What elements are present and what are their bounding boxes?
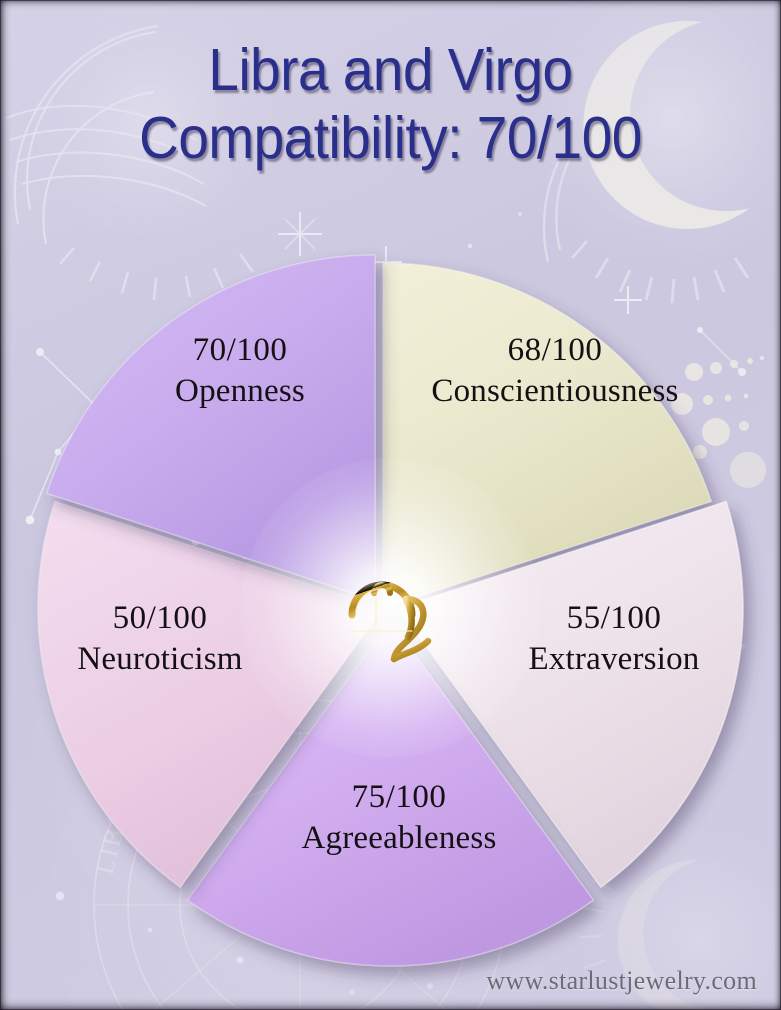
website-url[interactable]: www.starlustjewelry.com: [486, 966, 757, 996]
libra-virgo-zodiac-glyph-icon: [332, 541, 452, 669]
compatibility-pie-chart: [0, 0, 781, 1010]
infographic-canvas: LIBRA VIRGO: [0, 0, 781, 1010]
